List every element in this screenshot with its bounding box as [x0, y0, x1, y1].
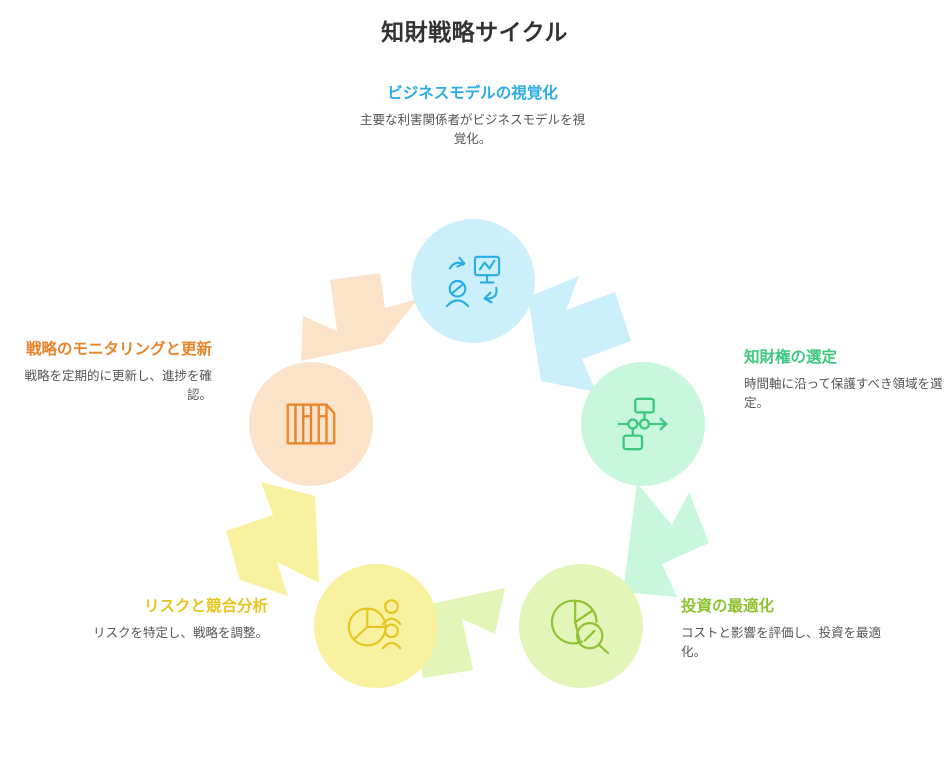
flowchart-timeline-icon	[612, 393, 674, 455]
bar-chart-document-icon	[280, 393, 342, 455]
cycle-label-step3: 投資の最適化 コストと影響を評価し、投資を最適化。	[681, 597, 891, 661]
cycle-label-step1-title: ビジネスモデルの視覚化	[355, 84, 590, 105]
cycle-node-step5[interactable]	[249, 362, 373, 486]
cycle-label-step5: 戦略のモニタリングと更新 戦略を定期的に更新し、進捗を確認。	[12, 340, 212, 404]
cycle-label-step4: リスクと競合分析 リスクを特定し、戦略を調整。	[53, 597, 268, 643]
cycle-node-step2[interactable]	[581, 362, 705, 486]
cycle-label-step2: 知財権の選定 時間軸に沿って保護すべき領域を選定。	[744, 348, 944, 412]
cycle-label-step2-description: 時間軸に沿って保護すべき領域を選定。	[744, 375, 944, 413]
cycle-label-step1-description: 主要な利害関係者がビジネスモデルを視覚化。	[355, 111, 590, 149]
arrow-step4-to-step5	[226, 482, 319, 596]
cycle-node-step3[interactable]	[519, 564, 643, 688]
cycle-node-step1[interactable]	[411, 219, 535, 343]
cycle-label-step5-title: 戦略のモニタリングと更新	[12, 340, 212, 361]
pie-chart-people-icon	[345, 595, 407, 657]
cycle-label-step3-title: 投資の最適化	[681, 597, 891, 618]
cycle-label-step3-description: コストと影響を評価し、投資を最適化。	[681, 624, 891, 662]
cycle-label-step4-description: リスクを特定し、戦略を調整。	[53, 624, 268, 643]
cycle-label-step5-description: 戦略を定期的に更新し、進捗を確認。	[12, 367, 212, 405]
arrow-step5-to-step1	[301, 273, 418, 361]
cycle-label-step2-title: 知財権の選定	[744, 348, 944, 369]
pie-chart-magnifier-icon	[550, 595, 612, 657]
cycle-label-step1: ビジネスモデルの視覚化 主要な利害関係者がビジネスモデルを視覚化。	[355, 84, 590, 148]
presentation-person-icon	[442, 250, 504, 312]
arrow-step2-to-step3	[623, 483, 709, 597]
cycle-label-step4-title: リスクと競合分析	[53, 597, 268, 618]
cycle-node-step4[interactable]	[314, 564, 438, 688]
cycle-diagram: ビジネスモデルの視覚化 主要な利害関係者がビジネスモデルを視覚化。 知財権の選定…	[0, 0, 949, 768]
